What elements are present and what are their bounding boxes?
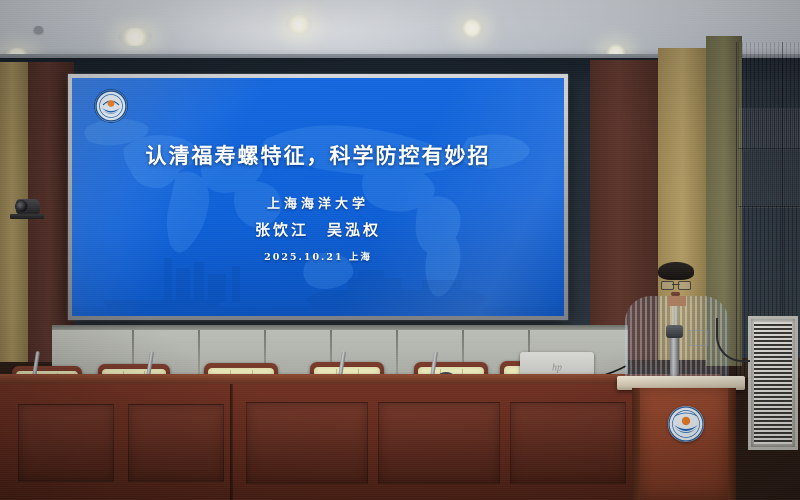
- dais-panel: [246, 402, 368, 484]
- ceiling-downlight: [286, 14, 312, 34]
- dais-panel: [128, 404, 224, 482]
- glasses-right-lens: [678, 281, 691, 290]
- projection-screen: 认清福寿螺特征，科学防控有妙招 上海海洋大学 张饮江 吴泓权 2025.10.2…: [72, 78, 564, 316]
- hvac-louvers-icon: [754, 322, 792, 444]
- podium-microphone-head: [666, 325, 683, 338]
- camera-bracket: [10, 214, 44, 219]
- dais-panel: [510, 402, 626, 484]
- dais-table-seam: [230, 384, 233, 500]
- smoke-detector-icon: [34, 26, 43, 33]
- speaker-mouth: [671, 292, 680, 296]
- camera-lens-icon: [15, 200, 28, 213]
- lecture-hall-photo: 认清福寿螺特征，科学防控有妙招 上海海洋大学 张饮江 吴泓权 2025.10.2…: [0, 0, 800, 500]
- wood-panel-seam: [738, 148, 800, 149]
- glasses-left-lens: [661, 281, 674, 290]
- shanghai-ocean-university-emblem: [668, 406, 704, 442]
- projection-screen-bezel: 认清福寿螺特征，科学防控有妙招 上海海洋大学 张饮江 吴泓权 2025.10.2…: [68, 74, 568, 320]
- slide-organization: 上海海洋大学: [72, 193, 564, 212]
- ship-skyline-watermark: [72, 254, 564, 316]
- speaker-hair: [658, 262, 694, 280]
- ceiling-downlight: [118, 28, 152, 46]
- shirt-pocket: [690, 330, 708, 346]
- dais-panel: [18, 404, 114, 482]
- dais-panel: [378, 402, 500, 484]
- wood-panel-block: [736, 108, 800, 208]
- wood-panel-seam: [738, 206, 800, 207]
- wood-panel-seam: [782, 42, 783, 332]
- panel-divider: [396, 330, 398, 376]
- ceiling-downlight: [460, 18, 484, 38]
- hvac-vent: [748, 316, 798, 450]
- shanghai-ocean-university-logo: [94, 89, 128, 123]
- slide-date-location: 2025.10.21 上海: [72, 249, 564, 263]
- podium-body: [640, 388, 728, 500]
- speaker-glasses-icon: [661, 281, 691, 288]
- wood-panel-block: [736, 206, 800, 318]
- slide-authors: 张饮江 吴泓权: [72, 219, 564, 240]
- panel-divider: [198, 330, 200, 376]
- slide-title: 认清福寿螺特征，科学防控有妙招: [72, 140, 564, 170]
